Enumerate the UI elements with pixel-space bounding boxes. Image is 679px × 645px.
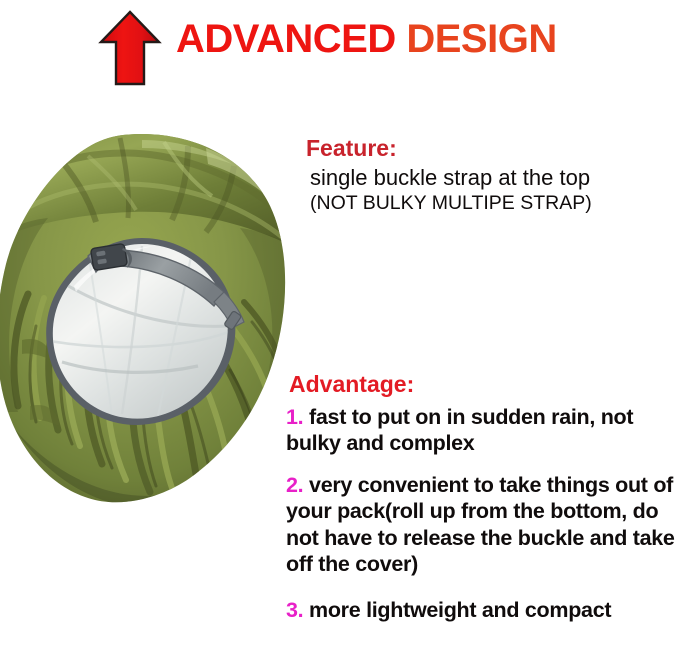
advantage-list-item: 3. more lightweight and compact [286, 597, 679, 623]
feature-sub-text: (NOT BULKY MULTIPE STRAP) [310, 192, 679, 215]
advantage-heading: Advantage: [289, 372, 679, 398]
advantage-item-text: more lightweight and compact [309, 598, 611, 622]
title-part-design: DESIGN [406, 17, 556, 61]
advantage-item-number: 1. [286, 405, 303, 429]
arrow-up-icon [98, 10, 162, 88]
advantage-block: Advantage: 1. fast to put on in sudden r… [286, 372, 679, 623]
advantage-list-item: 2. very convenient to take things out of… [286, 472, 679, 577]
page-title: ADVANCED DESIGN [176, 19, 557, 59]
product-image-rain-cover [0, 126, 292, 510]
advantage-item-number: 2. [286, 473, 303, 497]
feature-heading: Feature: [306, 136, 679, 162]
advantage-item-text: very convenient to take things out of yo… [286, 473, 675, 576]
feature-block: Feature: single buckle strap at the top … [306, 136, 679, 215]
feature-main-text: single buckle strap at the top [310, 165, 679, 191]
header-banner: ADVANCED DESIGN [0, 0, 679, 100]
advantage-item-number: 3. [286, 598, 303, 622]
title-part-advanced: ADVANCED [176, 17, 396, 61]
advantage-list-item: 1. fast to put on in sudden rain, not bu… [286, 404, 679, 456]
advantage-item-text: fast to put on in sudden rain, not bulky… [286, 405, 633, 455]
